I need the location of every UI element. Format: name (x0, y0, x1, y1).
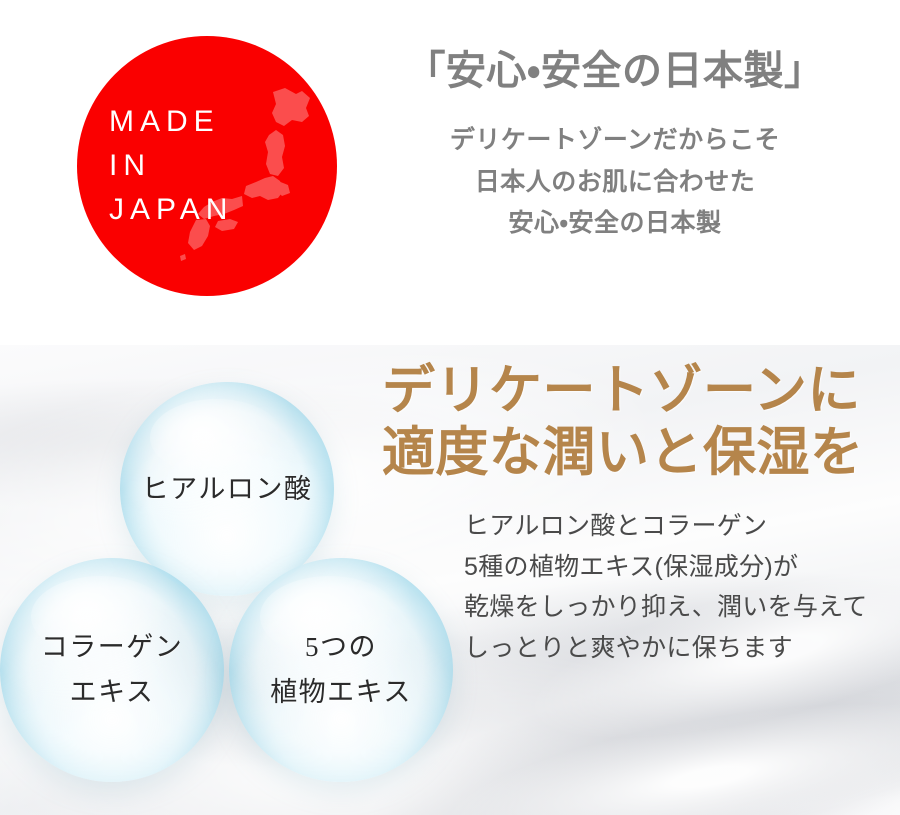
top-sub-line-3: 安心・安全の日本製 (380, 203, 850, 245)
background-silk-highlight-2 (424, 669, 900, 815)
bubble-label: 5つの 植物エキス (270, 625, 412, 714)
made-in-japan-section: MADE IN JAPAN 「安心・安全の日本製」 デリケートゾーンだからこそ … (0, 0, 900, 345)
badge-text-block: MADE IN JAPAN (77, 36, 337, 296)
made-in-japan-badge: MADE IN JAPAN (77, 36, 337, 296)
top-sub-line-1: デリケートゾーンだからこそ (380, 120, 850, 162)
badge-line-made: MADE (109, 100, 337, 144)
bottom-body-line-4: しっとりと爽やかに保ちます (464, 628, 892, 669)
bottom-body-line-3: 乾燥をしっかり抑え、潤いを与えて (464, 587, 892, 628)
badge-line-in: IN (109, 144, 337, 188)
bottom-body-block: ヒアルロン酸とコラーゲン 5種の植物エキス(保湿成分)が 乾燥をしっかり抑え、潤… (382, 506, 892, 668)
bottom-heading-line-2: 適度な潤いと保湿を (382, 422, 892, 484)
top-sub-line-2: 日本人のお肌に合わせた (380, 162, 850, 204)
bottom-heading-line-1: デリケートゾーンに (382, 360, 892, 422)
bottom-copy-block: デリケートゾーンに 適度な潤いと保湿を ヒアルロン酸とコラーゲン 5種の植物エキ… (382, 360, 892, 668)
promo-page: MADE IN JAPAN 「安心・安全の日本製」 デリケートゾーンだからこそ … (0, 0, 900, 815)
ingredient-bubble-collagen-extract: コラーゲン エキス (0, 558, 224, 782)
top-copy-block: 「安心・安全の日本製」 デリケートゾーンだからこそ 日本人のお肌に合わせた 安心… (380, 48, 850, 245)
bottom-body-line-1: ヒアルロン酸とコラーゲン (464, 506, 892, 547)
badge-line-japan: JAPAN (109, 188, 337, 232)
bubble-label: ヒアルロン酸 (142, 467, 313, 512)
bottom-body-line-2: 5種の植物エキス(保湿成分)が (464, 547, 892, 588)
moisture-ingredients-section: ヒアルロン酸 コラーゲン エキス 5つの 植物エキス デリケートゾーンに 適度な… (0, 345, 900, 815)
bubble-label: コラーゲン エキス (41, 625, 184, 714)
top-heading: 「安心・安全の日本製」 (380, 48, 850, 94)
